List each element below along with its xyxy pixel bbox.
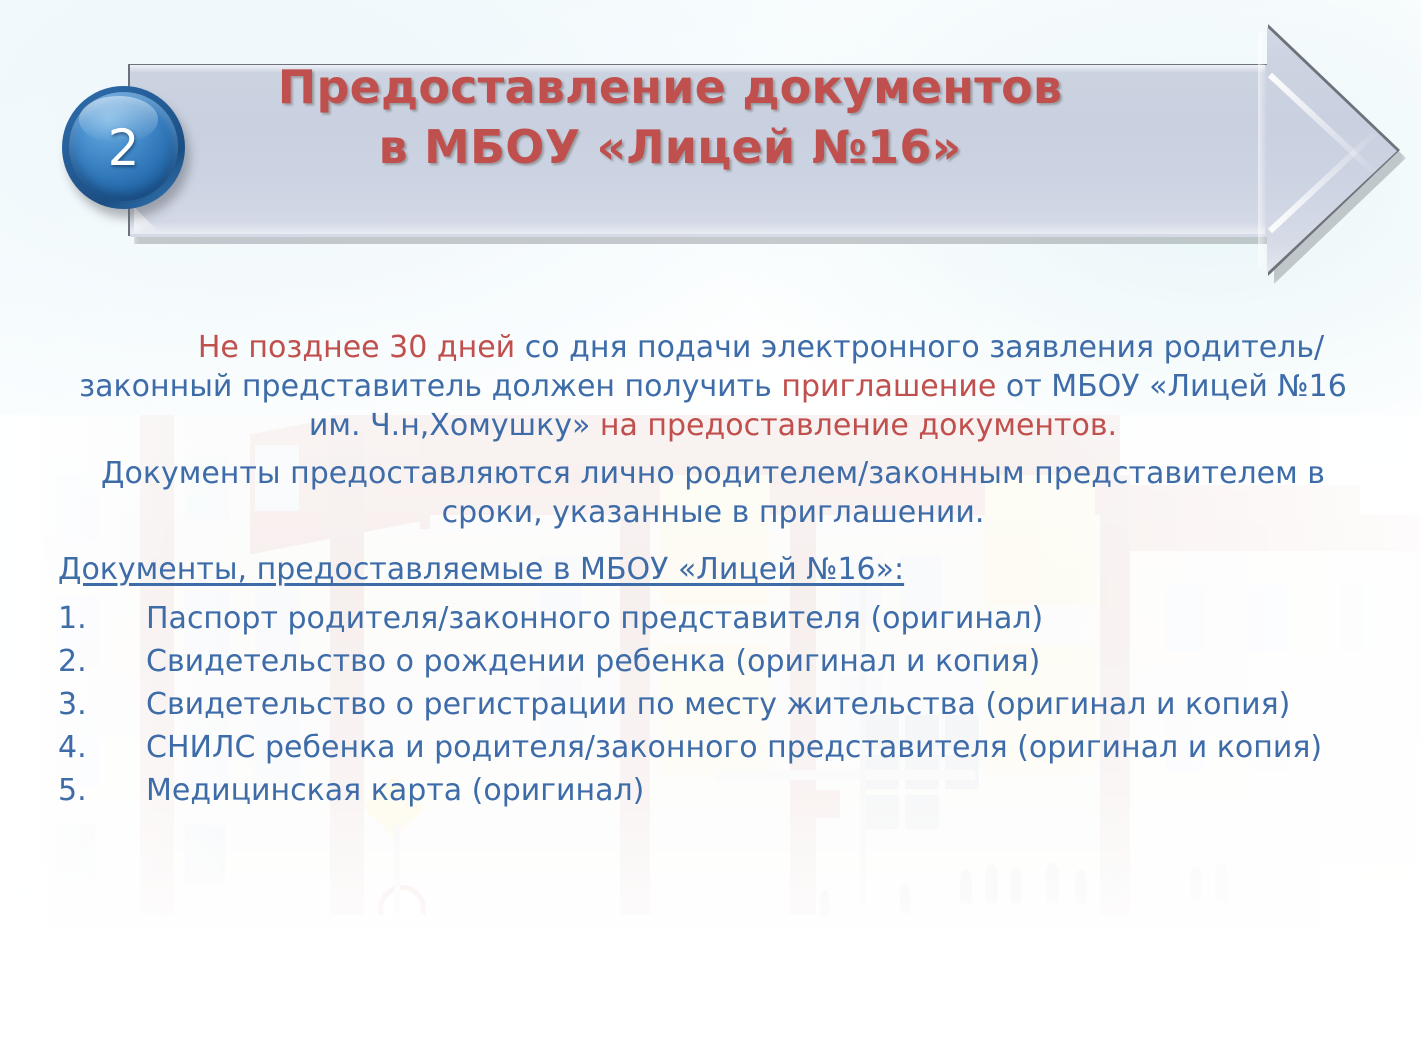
list-item-label: Паспорт родителя/законного представителя… <box>146 604 1368 634</box>
arrow-head-edge-highlight <box>1258 32 1267 268</box>
intro-paragraph: Не позднее 30 дней со дня подачи электро… <box>58 328 1368 445</box>
list-item-number: 1. <box>58 604 146 634</box>
list-item: 2. Свидетельство о рождении ребенка (ори… <box>58 647 1368 677</box>
list-item: 5. Медицинская карта (оригинал) <box>58 776 1368 806</box>
delivery-paragraph: Документы предоставляются лично родителе… <box>58 454 1368 532</box>
documents-heading: Документы, предоставляемые в МБОУ «Лицей… <box>58 552 904 587</box>
slide-title-line-1: Предоставление документов <box>278 60 1062 114</box>
list-item-label: Медицинская карта (оригинал) <box>146 776 1368 806</box>
list-item: 1. Паспорт родителя/законного представит… <box>58 604 1368 634</box>
list-item-label: Свидетельство о регистрации по месту жит… <box>146 690 1368 720</box>
list-item: 3. Свидетельство о регистрации по месту … <box>58 690 1368 720</box>
list-item-number: 3. <box>58 690 146 720</box>
list-item: 4. СНИЛС ребенка и родителя/законного пр… <box>58 733 1368 763</box>
list-item-label: СНИЛС ребенка и родителя/законного предс… <box>146 733 1368 763</box>
intro-segment-invitation: приглашение <box>781 369 996 404</box>
intro-segment-deadline: Не позднее 30 дней <box>198 330 515 365</box>
slide-title-line-2: в МБОУ «Лицей №16» <box>190 118 1150 178</box>
list-item-number: 5. <box>58 776 146 806</box>
step-number-badge: 2 <box>62 86 185 209</box>
list-item-number: 2. <box>58 647 146 677</box>
list-item-label: Свидетельство о рождении ребенка (оригин… <box>146 647 1368 677</box>
list-item-number: 4. <box>58 733 146 763</box>
badge-number-label: 2 <box>62 86 185 209</box>
intro-segment-purpose: на предоставление документов. <box>600 408 1117 443</box>
slide-title: Предоставление документов в МБОУ «Лицей … <box>190 58 1150 178</box>
documents-list: 1. Паспорт родителя/законного представит… <box>58 604 1368 819</box>
arrow-bevel-bottom <box>130 222 1265 234</box>
slide: Предоставление документов в МБОУ «Лицей … <box>0 0 1421 1051</box>
